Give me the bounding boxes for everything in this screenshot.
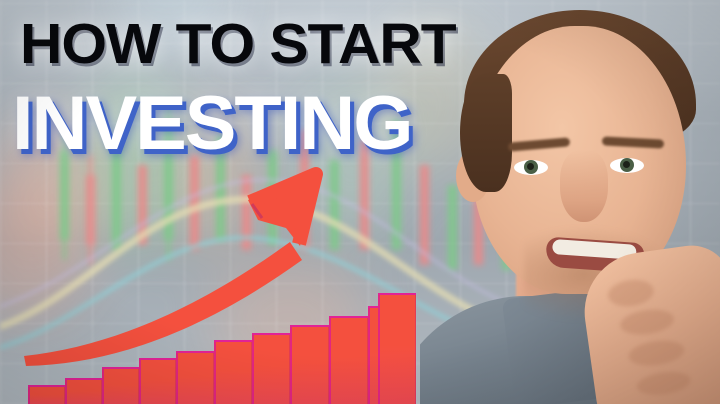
pupil-left: [524, 160, 538, 174]
hair-side: [460, 74, 512, 192]
nose: [560, 150, 608, 222]
title-line-2: INVESTING: [12, 86, 411, 162]
growth-arrow-icon: [0, 150, 430, 404]
person-photo: [420, 0, 720, 404]
youtube-thumbnail: HOW TO START INVESTING: [0, 0, 720, 404]
title-line-1: HOW TO START: [20, 16, 456, 73]
pupil-right: [620, 158, 634, 172]
